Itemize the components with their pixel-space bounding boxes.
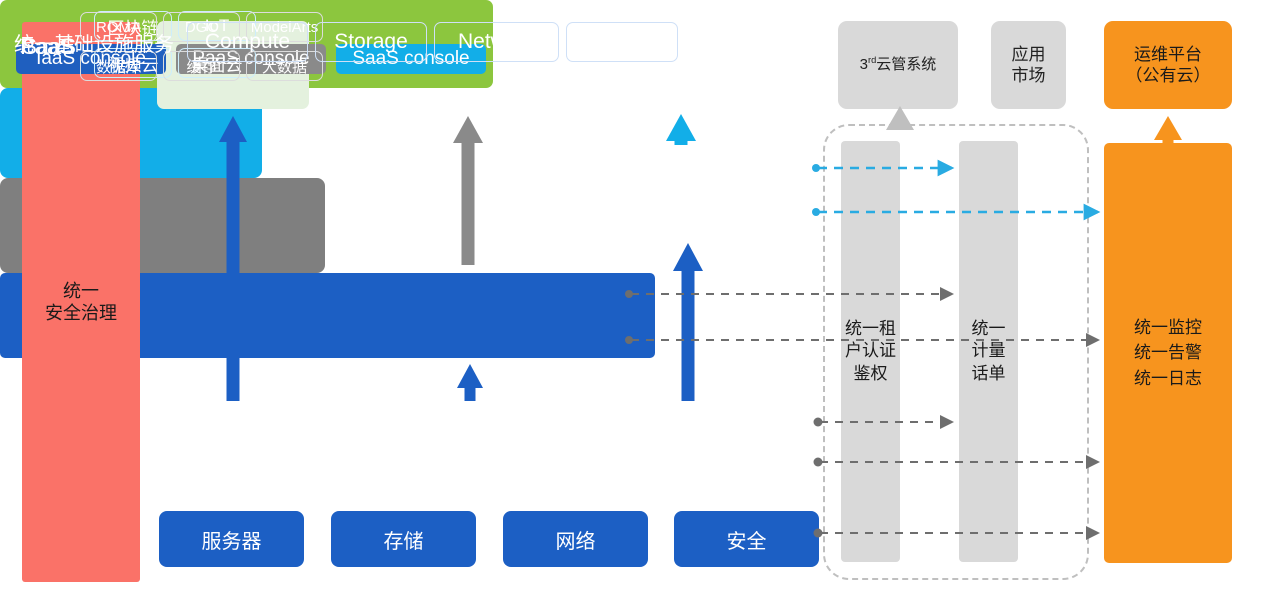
- security-line-2: 安全治理: [45, 302, 117, 325]
- infra-service-network[interactable]: Network: [434, 22, 559, 62]
- arrow-paas-to-console: [453, 116, 483, 265]
- infra-service-cce[interactable]: CCE: [566, 22, 678, 62]
- arrow-infra-to-paas: [457, 364, 483, 401]
- hardware-box-storage[interactable]: 存储: [331, 511, 476, 567]
- arrow-saas-to-console: [666, 114, 696, 145]
- unified-monitoring-panel: 统一监控 统一告警 统一日志: [1104, 143, 1232, 563]
- infrastructure-label: 统一基础设施服务: [14, 28, 174, 57]
- hardware-box-security[interactable]: 安全: [674, 511, 819, 567]
- infra-service-storage[interactable]: Storage: [315, 22, 427, 62]
- ops-platform-top-box: 运维平台 （公有云）: [1104, 21, 1232, 109]
- arrow-infra-to-saas: [673, 243, 703, 401]
- ops-platform-line-1: 运维平台: [1126, 44, 1211, 65]
- ops-right-line-1: 统一监控: [1134, 315, 1202, 341]
- metering-line-1: 统一: [972, 318, 1006, 340]
- app-market-line-2: 市场: [1012, 65, 1046, 86]
- app-market-line-1: 应用: [1012, 44, 1046, 65]
- third-party-cloud-mgmt-box: 3rd云管系统: [838, 21, 958, 109]
- third-party-label: 3rd云管系统: [860, 55, 937, 75]
- hardware-box-network[interactable]: 网络: [503, 511, 648, 567]
- shared-service-metering-billing: 统一 计量 话单: [959, 141, 1018, 562]
- ops-right-line-3: 统一日志: [1134, 366, 1202, 392]
- arrow-ops-right-to-ops-platform: [1154, 116, 1182, 143]
- unified-security-panel: 统一 安全治理: [22, 22, 140, 582]
- metering-line-3: 话单: [972, 363, 1006, 385]
- metering-line-2: 计量: [972, 340, 1006, 362]
- infra-service-compute[interactable]: Compute: [187, 22, 308, 62]
- shared-service-tenant-auth: 统一租 户认证 鉴权: [841, 141, 900, 562]
- security-line-1: 统一: [45, 280, 117, 303]
- app-market-box: 应用 市场: [991, 21, 1066, 109]
- tenant-auth-line-2: 户认证: [845, 340, 896, 362]
- architecture-diagram: 统一 安全治理 API网关 自助服务Console框架 IaaS console…: [0, 0, 1265, 605]
- tenant-auth-line-1: 统一租: [845, 318, 896, 340]
- ops-right-line-2: 统一告警: [1134, 340, 1202, 366]
- hardware-box-server[interactable]: 服务器: [159, 511, 304, 567]
- tenant-auth-line-3: 鉴权: [845, 363, 896, 385]
- ops-platform-line-2: （公有云）: [1126, 65, 1211, 86]
